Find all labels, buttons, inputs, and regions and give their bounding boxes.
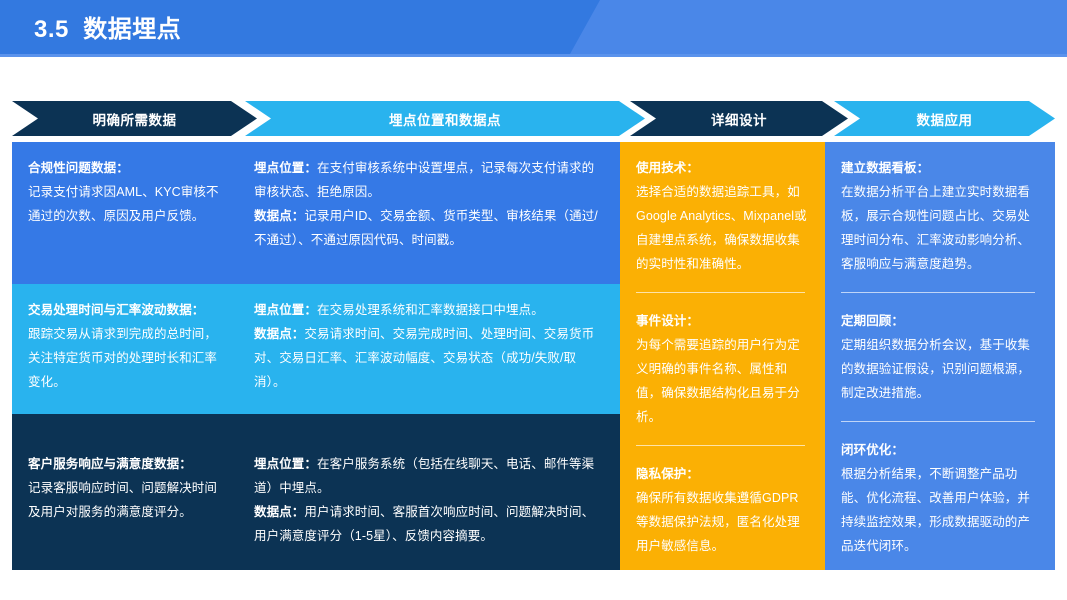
table-cell-data-r1c1: 合规性问题数据：记录支付请求因AML、KYC审核不通过的次数、原因及用户反馈。 — [12, 142, 238, 284]
page-title-text: 数据埋点 — [83, 16, 181, 43]
banner-underline — [0, 54, 1067, 57]
section-body: 确保所有数据收集遵循GDPR等数据保护法规，匿名化处理用户敏感信息。 — [636, 491, 800, 553]
column-header-label: 明确所需数据 — [93, 109, 177, 129]
cell-body: 记录客服响应时间、问题解决时间及用户对服务的满意度评分。 — [28, 481, 217, 519]
column-header-row: 明确所需数据 埋点位置和数据点 详细设计 数据应用 — [12, 101, 1055, 136]
table-cell-data-r2c1: 交易处理时间与汇率波动数据：跟踪交易从请求到完成的总时间，关注特定货币对的处理时… — [12, 284, 238, 414]
cell-body-datapoints: 记录用户ID、交易金额、货币类型、审核结果（通过/不通过）、不通过原因代码、时间… — [254, 209, 598, 247]
table-cell-data-r2c2: 埋点位置：在交易处理系统和汇率数据接口中埋点。数据点：交易请求时间、交易完成时间… — [238, 284, 620, 414]
cell-label-datapoints: 数据点： — [254, 505, 304, 519]
cell-body-datapoints: 交易请求时间、交易完成时间、处理时间、交易货币对、交易日汇率、汇率波动幅度、交易… — [254, 327, 594, 389]
cell-body-datapoints: 用户请求时间、客服首次响应时间、问题解决时间、用户满意度评分（1-5星）、反馈内… — [254, 505, 594, 543]
page-title-number: 3.5 — [34, 16, 69, 43]
design-section-隐私保护: 隐私保护：确保所有数据收集遵循GDPR等数据保护法规，匿名化处理用户敏感信息。 — [636, 462, 809, 558]
cell-body-location: 在交易处理系统和汇率数据接口中埋点。 — [317, 303, 544, 317]
section-divider — [636, 445, 805, 446]
column-header-label: 埋点位置和数据点 — [389, 109, 501, 129]
cell-heading: 合规性问题数据： — [28, 161, 129, 175]
cell-text: 埋点位置：在客户服务系统（包括在线聊天、电话、邮件等渠道）中埋点。数据点：用户请… — [254, 452, 604, 548]
application-section-建立数据看板: 建立数据看板：在数据分析平台上建立实时数据看板，展示合规性问题占比、交易处理时间… — [841, 156, 1039, 276]
section-divider — [636, 292, 805, 293]
section-text: 使用技术：选择合适的数据追踪工具，如Google Analytics、Mixpa… — [636, 156, 809, 276]
cell-text: 交易处理时间与汇率波动数据：跟踪交易从请求到完成的总时间，关注特定货币对的处理时… — [28, 298, 222, 394]
table-cell-data-r3c2: 埋点位置：在客户服务系统（包括在线聊天、电话、邮件等渠道）中埋点。数据点：用户请… — [238, 414, 620, 570]
section-heading: 隐私保护： — [636, 467, 699, 481]
section-divider — [841, 421, 1035, 422]
section-heading: 定期回顾： — [841, 314, 904, 328]
cell-body: 跟踪交易从请求到完成的总时间，关注特定货币对的处理时长和汇率变化。 — [28, 327, 217, 389]
content-grid: 合规性问题数据：记录支付请求因AML、KYC审核不通过的次数、原因及用户反馈。 … — [12, 142, 1055, 570]
application-section-闭环优化: 闭环优化：根据分析结果，不断调整产品功能、优化流程、改善用户体验，并持续监控效果… — [841, 438, 1039, 558]
cell-label-location: 埋点位置： — [254, 303, 317, 317]
section-body: 定期组织数据分析会议，基于收集的数据验证假设，识别问题根源，制定改进措施。 — [841, 338, 1030, 400]
application-column: 建立数据看板：在数据分析平台上建立实时数据看板，展示合规性问题占比、交易处理时间… — [825, 142, 1055, 570]
cell-text: 埋点位置：在支付审核系统中设置埋点，记录每次支付请求的审核状态、拒绝原因。数据点… — [254, 156, 604, 252]
table-cell-data-r1c2: 埋点位置：在支付审核系统中设置埋点，记录每次支付请求的审核状态、拒绝原因。数据点… — [238, 142, 620, 284]
column-header-详细设计[interactable]: 详细设计 — [630, 101, 848, 136]
section-body: 选择合适的数据追踪工具，如Google Analytics、Mixpanel或自… — [636, 185, 807, 271]
column-header-明确所需数据[interactable]: 明确所需数据 — [12, 101, 257, 136]
cell-text: 埋点位置：在交易处理系统和汇率数据接口中埋点。数据点：交易请求时间、交易完成时间… — [254, 298, 604, 394]
section-divider — [841, 292, 1035, 293]
column-header-label: 详细设计 — [711, 109, 767, 129]
section-text: 建立数据看板：在数据分析平台上建立实时数据看板，展示合规性问题占比、交易处理时间… — [841, 156, 1039, 276]
column-header-label: 数据应用 — [917, 109, 973, 129]
application-section-定期回顾: 定期回顾：定期组织数据分析会议，基于收集的数据验证假设，识别问题根源，制定改进措… — [841, 309, 1039, 405]
cell-body: 记录支付请求因AML、KYC审核不通过的次数、原因及用户反馈。 — [28, 185, 219, 223]
section-body: 根据分析结果，不断调整产品功能、优化流程、改善用户体验，并持续监控效果，形成数据… — [841, 467, 1030, 553]
section-text: 事件设计：为每个需要追踪的用户行为定义明确的事件名称、属性和值，确保数据结构化且… — [636, 309, 809, 429]
cell-label-location: 埋点位置： — [254, 161, 317, 175]
section-heading: 事件设计： — [636, 314, 699, 328]
cell-label-datapoints: 数据点： — [254, 327, 304, 341]
cell-label-datapoints: 数据点： — [254, 209, 304, 223]
section-heading: 闭环优化： — [841, 443, 904, 457]
cell-heading: 客户服务响应与满意度数据： — [28, 457, 192, 471]
section-heading: 建立数据看板： — [841, 161, 929, 175]
design-section-使用技术: 使用技术：选择合适的数据追踪工具，如Google Analytics、Mixpa… — [636, 156, 809, 276]
column-header-数据应用[interactable]: 数据应用 — [834, 101, 1055, 136]
section-heading: 使用技术： — [636, 161, 699, 175]
cell-heading: 交易处理时间与汇率波动数据： — [28, 303, 204, 317]
section-text: 隐私保护：确保所有数据收集遵循GDPR等数据保护法规，匿名化处理用户敏感信息。 — [636, 462, 809, 558]
cell-label-location: 埋点位置： — [254, 457, 317, 471]
section-text: 定期回顾：定期组织数据分析会议，基于收集的数据验证假设，识别问题根源，制定改进措… — [841, 309, 1039, 405]
table-cell-data-r3c1: 客户服务响应与满意度数据：记录客服响应时间、问题解决时间及用户对服务的满意度评分… — [12, 414, 238, 570]
design-section-事件设计: 事件设计：为每个需要追踪的用户行为定义明确的事件名称、属性和值，确保数据结构化且… — [636, 309, 809, 429]
column-header-埋点位置和数据点[interactable]: 埋点位置和数据点 — [245, 101, 645, 136]
section-body: 在数据分析平台上建立实时数据看板，展示合规性问题占比、交易处理时间分布、汇率波动… — [841, 185, 1030, 271]
section-body: 为每个需要追踪的用户行为定义明确的事件名称、属性和值，确保数据结构化且易于分析。 — [636, 338, 800, 424]
cell-text: 客户服务响应与满意度数据：记录客服响应时间、问题解决时间及用户对服务的满意度评分… — [28, 452, 222, 524]
section-text: 闭环优化：根据分析结果，不断调整产品功能、优化流程、改善用户体验，并持续监控效果… — [841, 438, 1039, 558]
page-title: 3.5 数据埋点 — [34, 9, 181, 44]
cell-text: 合规性问题数据：记录支付请求因AML、KYC审核不通过的次数、原因及用户反馈。 — [28, 156, 222, 228]
design-column: 使用技术：选择合适的数据追踪工具，如Google Analytics、Mixpa… — [620, 142, 825, 570]
